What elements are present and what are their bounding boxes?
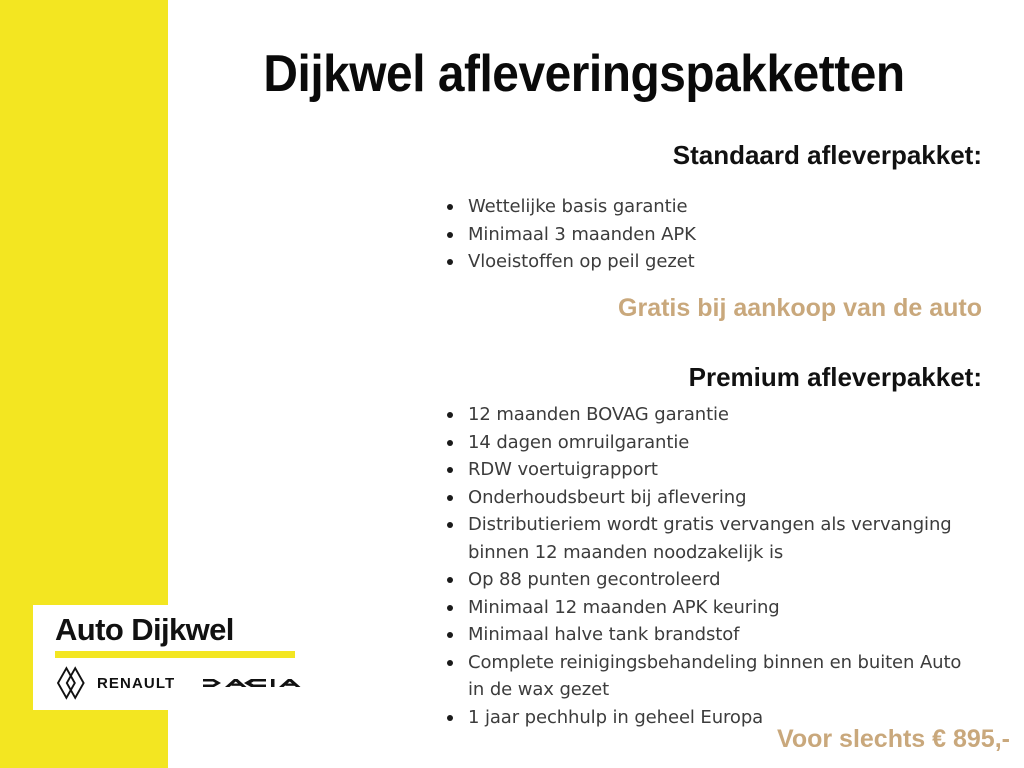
list-item: Distributieriem wordt gratis vervangen a… [440, 511, 980, 566]
list-item: Minimaal 12 maanden APK keuring [440, 594, 980, 622]
list-item-label: Complete reinigingsbehandeling binnen en… [468, 652, 961, 701]
list-item-label: Onderhoudsbeurt bij aflevering [468, 487, 746, 508]
list-item: Wettelijke basis garantie [440, 193, 960, 221]
list-item: 12 maanden BOVAG garantie [440, 401, 980, 429]
list-item: Complete reinigingsbehandeling binnen en… [440, 649, 980, 704]
list-standaard-features: Wettelijke basis garantie Minimaal 3 maa… [440, 193, 960, 276]
slide-canvas: Dijkwel afleveringspakketten Standaard a… [0, 0, 1024, 768]
list-item: 14 dagen omruilgarantie [440, 429, 980, 457]
section-heading-standaard: Standaard afleverpakket: [420, 139, 982, 171]
logo-yellow-rule [55, 651, 295, 658]
list-item: Minimaal halve tank brandstof [440, 621, 980, 649]
dacia-wordmark-icon [203, 673, 315, 693]
dealer-name: Auto Dijkwel [55, 612, 295, 648]
section-heading-premium: Premium afleverpakket: [420, 361, 982, 393]
premium-price-note: Voor slechts € 895,- [420, 723, 1010, 755]
list-item-label: 14 dagen omruilgarantie [468, 432, 689, 453]
dealer-logo-block: Auto Dijkwel RENAULT [33, 605, 305, 710]
list-premium-features: 12 maanden BOVAG garantie 14 dagen omrui… [440, 401, 980, 731]
list-item-label: Wettelijke basis garantie [468, 196, 687, 217]
list-item-label: Distributieriem wordt gratis vervangen a… [468, 514, 952, 563]
list-item: Onderhoudsbeurt bij aflevering [440, 484, 980, 512]
list-item-label: Minimaal halve tank brandstof [468, 624, 739, 645]
list-item-label: 12 maanden BOVAG garantie [468, 404, 729, 425]
list-item: Minimaal 3 maanden APK [440, 221, 960, 249]
list-item-label: Vloeistoffen op peil gezet [468, 251, 695, 272]
list-item: Vloeistoffen op peil gezet [440, 248, 960, 276]
standaard-price-note: Gratis bij aankoop van de auto [420, 292, 982, 324]
list-item-label: RDW voertuigrapport [468, 459, 658, 480]
renault-diamond-icon [55, 666, 87, 700]
list-item: RDW voertuigrapport [440, 456, 980, 484]
list-item: Op 88 punten gecontroleerd [440, 566, 980, 594]
list-item-label: Op 88 punten gecontroleerd [468, 569, 720, 590]
brand-row: RENAULT [55, 666, 295, 700]
list-item-label: Minimaal 3 maanden APK [468, 224, 696, 245]
page-title: Dijkwel afleveringspakketten [218, 44, 950, 104]
renault-wordmark: RENAULT [97, 675, 175, 692]
list-item-label: Minimaal 12 maanden APK keuring [468, 597, 780, 618]
